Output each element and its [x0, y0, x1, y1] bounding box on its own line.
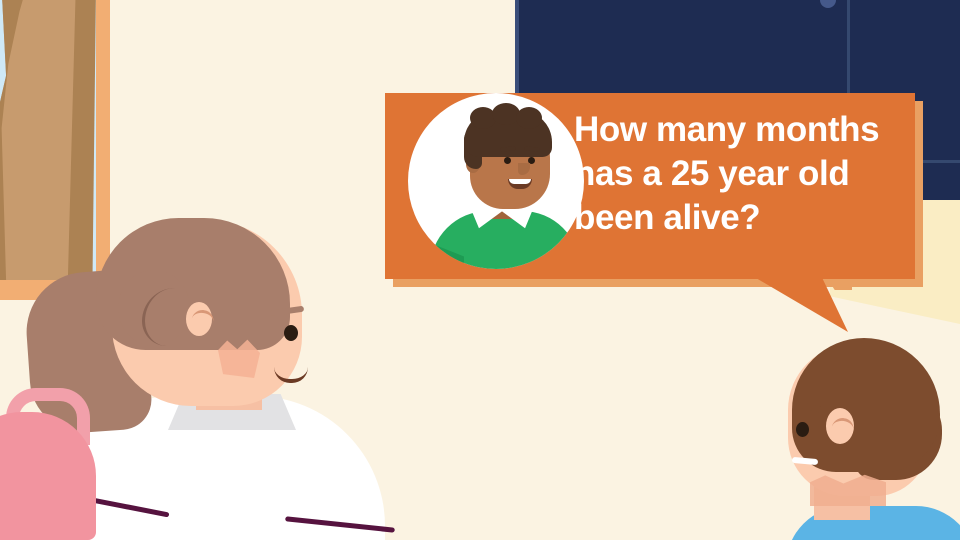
speech-line-1: How many months: [574, 108, 914, 152]
speech-line-3: been alive?: [574, 196, 914, 240]
boy-blue-shirt: [786, 506, 960, 540]
boy-student: [770, 330, 960, 540]
avatar-teeth: [509, 179, 531, 184]
woman-eye: [284, 325, 298, 341]
speech-bubble-text: How many months has a 25 year old been a…: [574, 108, 914, 240]
avatar-hair-curl: [516, 107, 542, 129]
speech-line-2: has a 25 year old: [574, 152, 914, 196]
illustration-scene: How many months has a 25 year old been a…: [0, 0, 960, 540]
presenter-avatar: [408, 93, 584, 269]
avatar-eye: [504, 157, 511, 164]
boy-eye: [796, 422, 809, 437]
